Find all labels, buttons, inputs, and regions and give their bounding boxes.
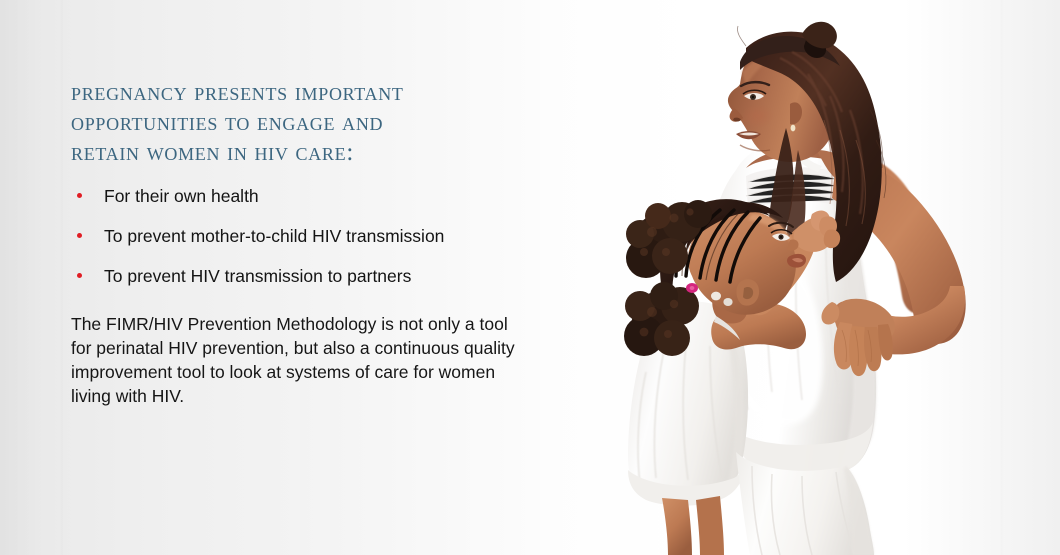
bullet-dot-icon <box>77 273 82 278</box>
mother-cheek <box>742 104 774 128</box>
bullet-label: For their own health <box>104 186 259 206</box>
bullet-list: For their own health To prevent mother-t… <box>71 185 541 305</box>
child-leg-right <box>696 496 724 555</box>
photo-mother-and-child <box>540 0 1060 555</box>
child-hair-bead-white-2 <box>723 298 732 306</box>
child-hair-bead-highlight <box>690 286 695 290</box>
list-item: To prevent HIV transmission to partners <box>71 265 541 287</box>
bullet-dot-icon <box>77 233 82 238</box>
list-item: For their own health <box>71 185 541 207</box>
bullet-dot-icon <box>77 193 82 198</box>
bullet-label: To prevent mother-to-child HIV transmiss… <box>104 226 444 246</box>
mother-earring <box>791 125 796 132</box>
list-item: To prevent mother-to-child HIV transmiss… <box>71 225 541 247</box>
body-paragraph: The FIMR/HIV Prevention Methodology is n… <box>71 312 531 408</box>
photo-illustration <box>540 0 1060 555</box>
page-title: Pregnancy presents important opportuniti… <box>71 78 541 168</box>
slide-canvas: Pregnancy presents important opportuniti… <box>0 0 1060 555</box>
child-hair-bead-white-1 <box>711 292 721 301</box>
text-column: Pregnancy presents important opportuniti… <box>0 0 560 555</box>
bullet-label: To prevent HIV transmission to partners <box>104 266 411 286</box>
